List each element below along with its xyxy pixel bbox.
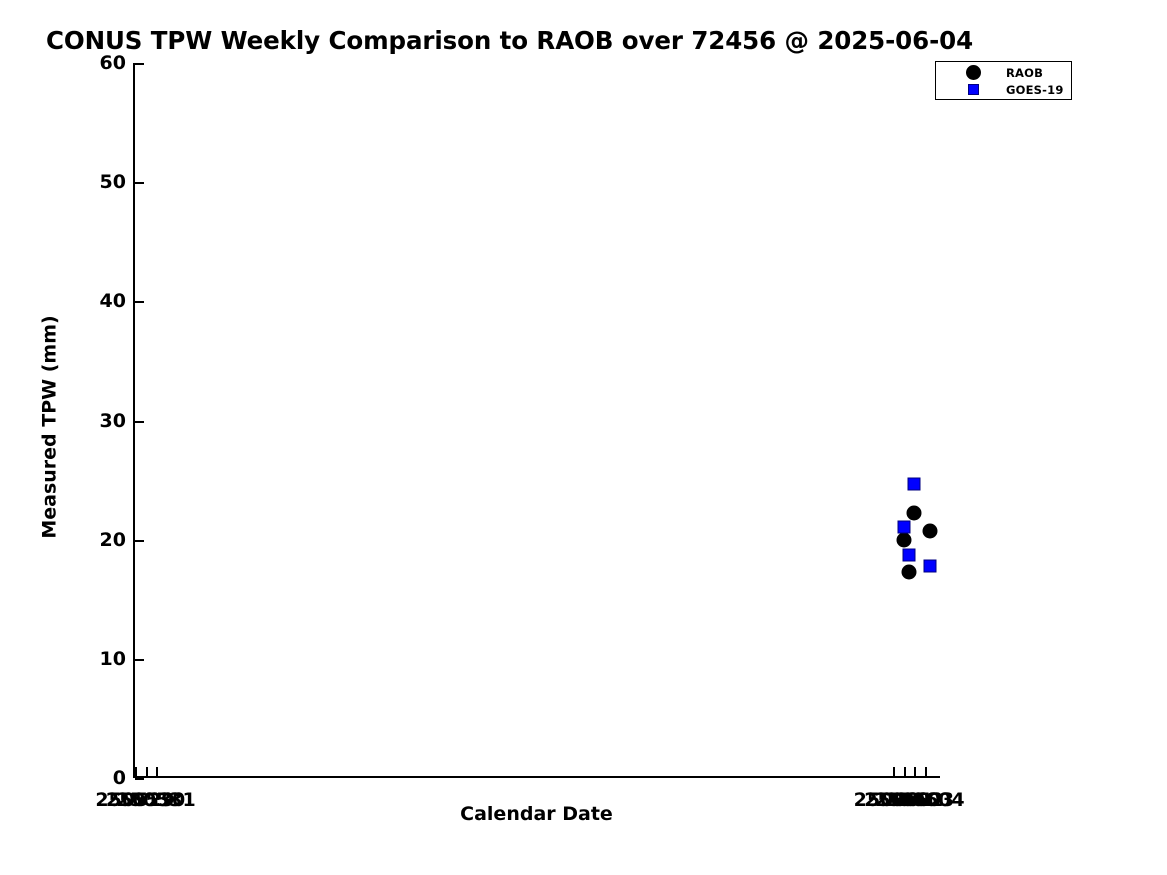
data-point-goes-19 (897, 520, 910, 533)
legend-swatch-shape (966, 65, 981, 80)
square-marker-icon (965, 82, 981, 98)
y-tick-mark (135, 182, 144, 184)
data-point-raob (902, 564, 917, 579)
legend-label: GOES-19 (1006, 83, 1064, 97)
page-title: CONUS TPW Weekly Comparison to RAOB over… (46, 26, 973, 55)
y-tick-mark (135, 540, 144, 542)
chart-legend: RAOBGOES-19 (935, 61, 1072, 100)
legend-entry: GOES-19 (936, 81, 1071, 98)
x-tick-mark (904, 767, 906, 776)
y-tick-mark (135, 63, 144, 65)
y-tick-label: 20 (100, 529, 126, 551)
data-point-raob (907, 506, 922, 521)
x-tick-mark (914, 767, 916, 776)
chart-figure: CONUS TPW Weekly Comparison to RAOB over… (0, 0, 1167, 875)
y-tick-mark (135, 778, 144, 780)
circle-marker-icon (965, 65, 981, 81)
y-tick-mark (135, 659, 144, 661)
x-tick-mark (146, 767, 148, 776)
y-tick-label: 10 (100, 648, 126, 670)
y-tick-label: 40 (100, 290, 126, 312)
y-tick-mark (135, 301, 144, 303)
y-tick-mark (135, 421, 144, 423)
y-tick-label: 60 (100, 52, 126, 74)
x-axis-title: Calendar Date (133, 803, 940, 825)
data-point-raob (896, 532, 911, 547)
legend-entry: RAOB (936, 64, 1071, 81)
x-tick-mark (925, 767, 927, 776)
data-point-goes-19 (908, 477, 921, 490)
y-axis-title: Measured TPW (mm) (39, 70, 65, 785)
y-tick-label: 0 (113, 767, 126, 789)
y-tick-label: 30 (100, 410, 126, 432)
x-tick-mark (156, 767, 158, 776)
legend-label: RAOB (1006, 66, 1043, 80)
y-tick-label: 50 (100, 171, 126, 193)
data-point-goes-19 (903, 549, 916, 562)
data-point-goes-19 (924, 559, 937, 572)
x-tick-mark (135, 767, 137, 776)
x-tick-mark (893, 767, 895, 776)
plot-area: 0102030405060 25052925053025053125060125… (133, 63, 940, 778)
data-point-raob (923, 524, 938, 539)
legend-swatch-shape (968, 84, 979, 95)
